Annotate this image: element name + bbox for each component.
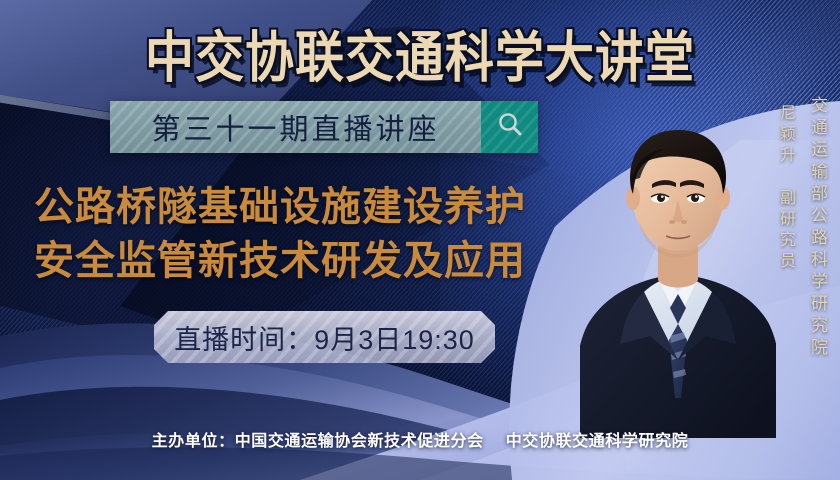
lecture-topic: 公路桥隧基础设施建设养护 安全监管新技术研发及应用 — [34, 180, 594, 288]
episode-search-bar[interactable]: 第三十一期直播讲座 — [110, 101, 538, 153]
search-button[interactable] — [481, 101, 538, 153]
footer-organizer-1: 中国交通运输协会新技术促进分会 — [235, 433, 484, 450]
lecture-topic-line-2: 安全监管新技术研发及应用 — [34, 234, 594, 288]
lecture-topic-line-1: 公路桥隧基础设施建设养护 — [34, 180, 594, 234]
speaker-name-title: 尼颖升 副研究员 — [773, 104, 797, 273]
search-icon — [495, 110, 525, 145]
livestream-poster: 中交协联交通科学大讲堂 第三十一期直播讲座 公路桥隧基础设施建设养护 安全监管新… — [0, 0, 840, 480]
episode-label: 第三十一期直播讲座 — [151, 106, 439, 148]
footer-organizer-label: 主办单位： — [152, 433, 235, 450]
broadcast-time-text: 直播时间：9月3日19:30 — [174, 318, 475, 357]
footer-organizers: 主办单位：中国交通运输协会新技术促进分会中交协联交通科学研究院 — [0, 427, 840, 451]
broadcast-time-badge: 直播时间：9月3日19:30 — [154, 311, 495, 363]
episode-label-field[interactable]: 第三十一期直播讲座 — [110, 101, 481, 153]
speaker-organization: 交通运输部公路科学研究院 — [805, 96, 830, 360]
footer-organizer-2: 中交协联交通科学研究院 — [506, 433, 689, 450]
speaker-portrait — [580, 78, 776, 438]
